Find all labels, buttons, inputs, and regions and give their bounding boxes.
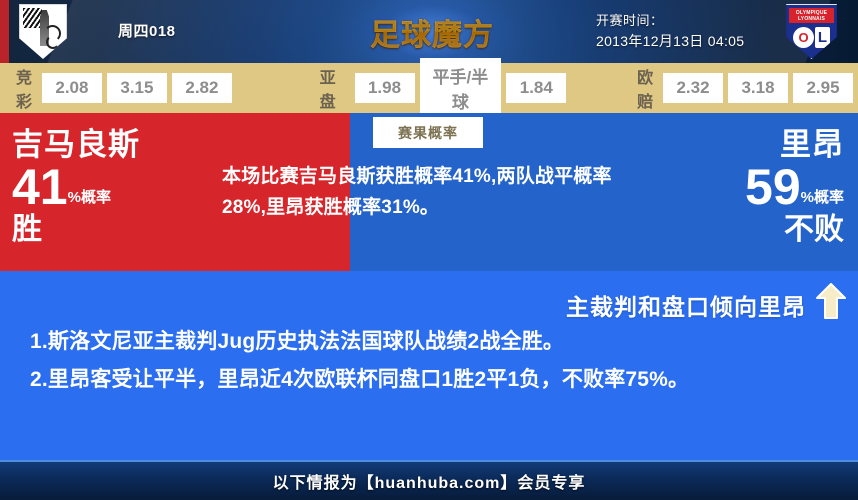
home-team-name: 吉马良斯 [12,127,202,163]
odds-group-label: 亚盘 [320,64,349,112]
away-probability-suffix: %概率 [801,190,844,209]
odds-value[interactable]: 2.95 [793,73,853,103]
analysis-note-2: 2.里昂客受让平半，里昂近4次欧联杯同盘口1胜2平1负，不败率75%。 [30,361,838,399]
home-probability-outcome: 胜 [12,213,202,247]
away-team-crest-icon: OLYMPIQUE LYONNAIS O L [784,4,839,59]
home-team-crest-icon [19,4,67,59]
away-team-name: 里昂 [745,127,844,163]
infographic-root: 周四018 足球魔方 开赛时间： 2013年12月13日 04:05 OLYMP… [0,0,858,498]
odds-value[interactable]: 1.98 [355,73,415,103]
odds-value[interactable]: 3.15 [107,73,167,103]
analysis-section: 主裁判和盘口倾向里昂 1.斯洛文尼亚主裁判Jug历史执法法国球队战绩2战全胜。 … [0,271,858,460]
footer-bar: 以下情报为【huanhuba.com】会员专享 [0,460,858,500]
analysis-headline: 主裁判和盘口倾向里昂 [566,288,806,322]
header-diagonal-left [47,0,332,63]
analysis-notes: 1.斯洛文尼亚主裁判Jug历史执法法国球队战绩2战全胜。 2.里昂客受让平半，里… [30,323,838,399]
footer-text: 以下情报为【huanhuba.com】会员专享 [273,469,586,493]
home-probability-value: 41 [12,165,68,209]
odds-handicap[interactable]: 平手/半球 [420,58,502,118]
away-crest-initial-l: L [815,27,830,48]
odds-group-label: 竞彩 [16,64,36,112]
odds-group-oupei: 欧赔 2.32 3.18 2.95 [637,64,858,112]
away-crest-bottom-line: LYONNAIS [798,16,825,22]
home-probability-suffix: %概率 [68,190,111,209]
odds-value[interactable]: 2.82 [172,73,232,103]
analysis-note-1: 1.斯洛文尼亚主裁判Jug历史执法法国球队战绩2战全胜。 [30,323,838,361]
kickoff-time: 2013年12月13日 04:05 [596,31,744,51]
odds-group-jingcai: 竞彩 2.08 3.15 2.82 [0,64,237,112]
odds-value[interactable]: 3.18 [728,73,788,103]
header-bar: 周四018 足球魔方 开赛时间： 2013年12月13日 04:05 OLYMP… [0,0,858,63]
header-red-accent [0,0,9,63]
odds-value[interactable]: 1.84 [506,73,566,103]
kickoff-label: 开赛时间： [596,10,664,29]
match-number: 周四018 [118,20,176,41]
odds-bar: 竞彩 2.08 3.15 2.82 亚盘 1.98 平手/半球 1.84 欧赔 … [0,63,858,113]
away-probability-outcome: 不败 [745,213,844,247]
odds-value[interactable]: 2.08 [42,73,102,103]
away-probability-block: 里昂 59 %概率 不败 [745,127,844,247]
home-probability-block: 吉马良斯 41 %概率 胜 [12,127,202,247]
brand-logo: 足球魔方 [359,4,505,59]
probability-section: 赛果概率 吉马良斯 41 %概率 胜 里昂 59 %概率 不败 本场比赛吉马良斯… [0,113,858,271]
brand-logo-text: 足球魔方 [370,10,494,54]
odds-group-label: 欧赔 [637,64,657,112]
away-crest-initial-o: O [793,27,814,48]
odds-group-yapan: 亚盘 1.98 平手/半球 1.84 [320,58,572,118]
probability-summary: 本场比赛吉马良斯获胜概率41%,两队战平概率28%,里昂获胜概率31%。 [222,161,642,223]
arrow-up-icon [816,283,846,319]
odds-value[interactable]: 2.32 [663,73,723,103]
tab-result-probability[interactable]: 赛果概率 [373,117,483,148]
away-probability-value: 59 [745,165,801,209]
